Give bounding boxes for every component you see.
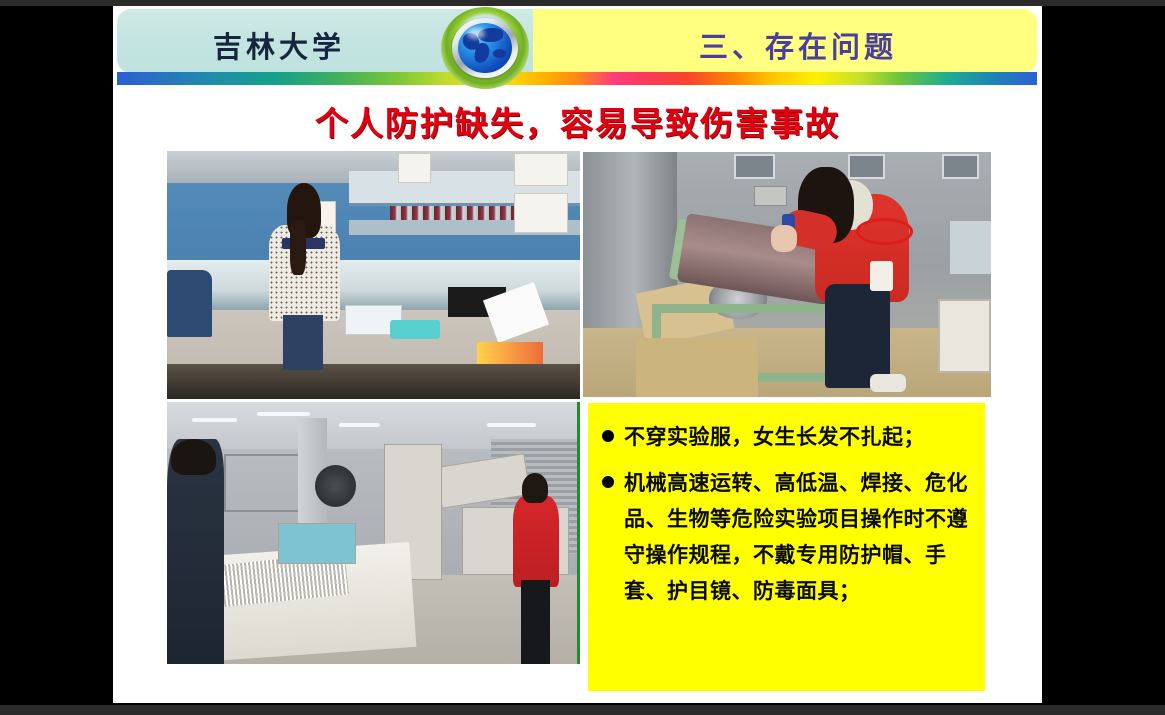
section-heading: 三、存在问题 [583, 24, 1013, 66]
sander-operator [779, 167, 942, 392]
globe-icon [435, 6, 535, 91]
problem-list-box: 不穿实验服，女生长发不扎起； 机械高速运转、高低温、焊接、危化品、生物等危险实验… [588, 403, 985, 691]
textile-mill-photo [167, 402, 580, 664]
bullet-dot-icon [602, 476, 614, 488]
slide-title: 个人防护缺失，容易导致伤害事故 [113, 97, 1042, 145]
university-name: 吉林大学 [213, 24, 473, 66]
globe-sphere [458, 23, 512, 73]
bullet-text: 不穿实验服，女生长发不扎起； [624, 419, 925, 455]
problem-list: 不穿实验服，女生长发不扎起； 机械高速运转、高低温、焊接、危化品、生物等危险实验… [598, 419, 973, 610]
textile-worker-right [511, 473, 560, 664]
rainbow-divider [117, 72, 1037, 85]
lab-person [262, 183, 345, 367]
list-item: 机械高速运转、高低温、焊接、危化品、生物等危险实验项目操作时不遵守操作规程，不戴… [598, 465, 973, 609]
screen: 吉林大学 三、存在问题 个人防护缺失，容易导致伤害事故 [0, 0, 1165, 715]
presentation-slide: 吉林大学 三、存在问题 个人防护缺失，容易导致伤害事故 [113, 6, 1042, 703]
belt-sander-photo [583, 152, 991, 397]
letterbox-left [0, 6, 113, 705]
lab-photo [167, 151, 580, 399]
letterbox-right [1042, 6, 1165, 705]
bullet-text: 机械高速运转、高低温、焊接、危化品、生物等危险实验项目操作时不遵守操作规程，不戴… [624, 465, 973, 609]
bullet-dot-icon [602, 430, 614, 442]
list-item: 不穿实验服，女生长发不扎起； [598, 419, 973, 455]
letterbox-bottom [0, 705, 1165, 715]
